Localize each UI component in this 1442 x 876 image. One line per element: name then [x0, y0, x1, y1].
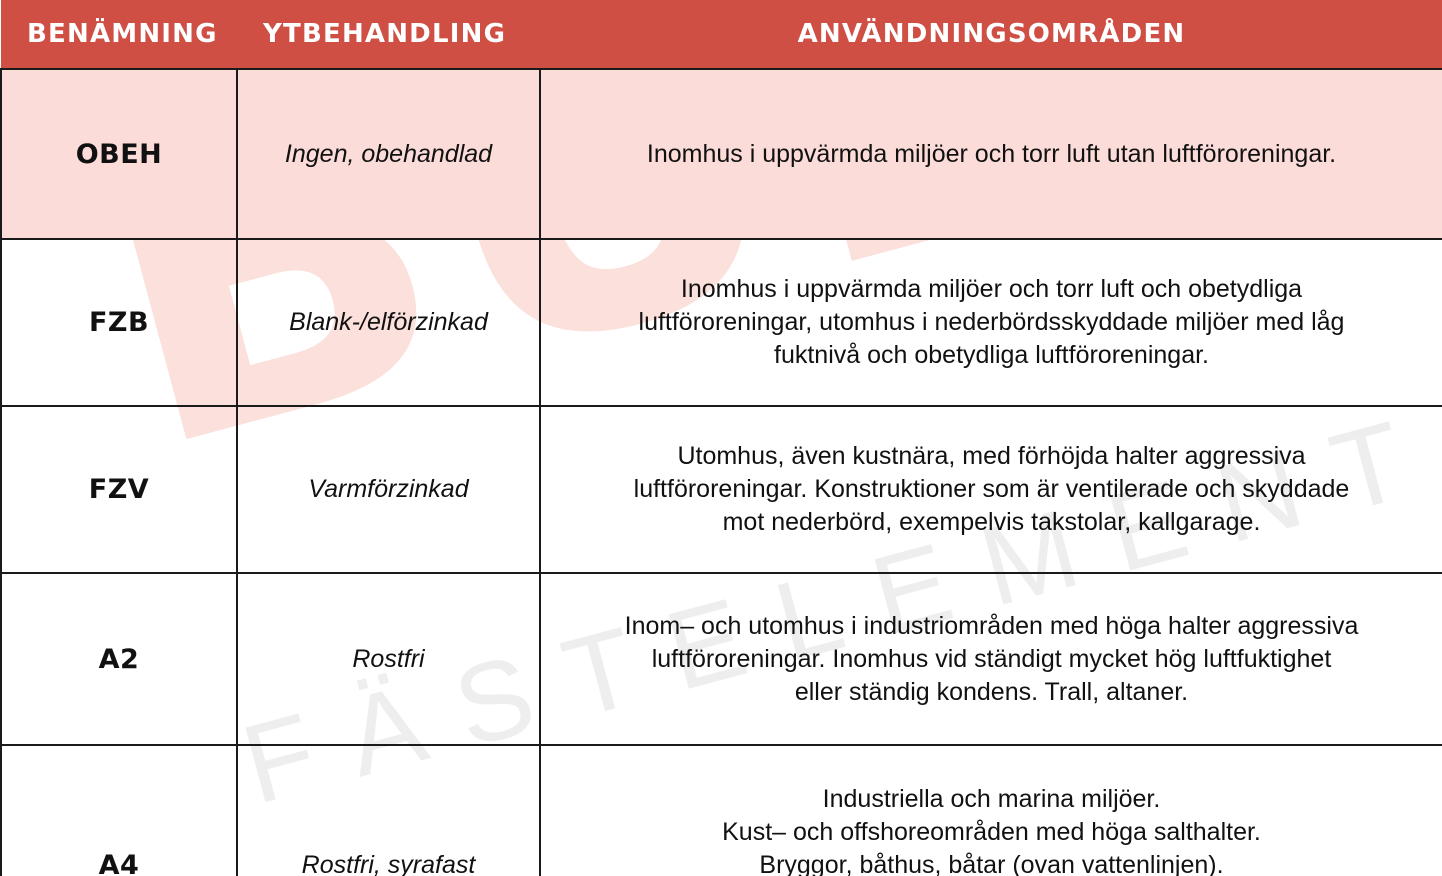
table-header: BENÄMNING YTBEHANDLING ANVÄNDNINGSOMRÅDE… [1, 0, 1442, 69]
cell-usage: Inomhus i uppvärmda miljöer och torr luf… [540, 239, 1442, 406]
cell-code: A4 [1, 745, 237, 876]
usage-line: eller ständig kondens. Trall, altaner. [559, 676, 1424, 709]
usage-line: Utomhus, även kustnära, med förhöjda hal… [559, 440, 1424, 473]
cell-treatment: Rostfri [237, 573, 540, 745]
cell-code: FZV [1, 406, 237, 573]
column-header-benamning: BENÄMNING [1, 0, 237, 69]
cell-treatment: Blank-/elförzinkad [237, 239, 540, 406]
usage-line: Industriella och marina miljöer. [559, 783, 1424, 816]
table-row: A2 Rostfri Inom– och utomhus i industrio… [1, 573, 1442, 745]
page-root: BULTAB FÄSTELEMENT BENÄMNING YTBEHANDLIN… [0, 0, 1442, 876]
surface-treatment-table: BENÄMNING YTBEHANDLING ANVÄNDNINGSOMRÅDE… [0, 0, 1442, 876]
cell-code: FZB [1, 239, 237, 406]
cell-code: OBEH [1, 69, 237, 239]
table-row: FZV Varmförzinkad Utomhus, även kustnära… [1, 406, 1442, 573]
cell-treatment: Rostfri, syrafast [237, 745, 540, 876]
table-row: A4 Rostfri, syrafast Industriella och ma… [1, 745, 1442, 876]
usage-line: Inom– och utomhus i industriområden med … [559, 610, 1424, 643]
cell-usage: Industriella och marina miljöer. Kust– o… [540, 745, 1442, 876]
table-row: OBEH Ingen, obehandlad Inomhus i uppvärm… [1, 69, 1442, 239]
cell-treatment: Ingen, obehandlad [237, 69, 540, 239]
usage-line: luftföroreningar. Inomhus vid ständigt m… [559, 643, 1424, 676]
usage-line: luftföroreningar. Konstruktioner som är … [559, 473, 1424, 506]
cell-code: A2 [1, 573, 237, 745]
usage-line: Inomhus i uppvärmda miljöer och torr luf… [559, 138, 1424, 171]
usage-line: fuktnivå och obetydliga luftföroreningar… [559, 339, 1424, 372]
cell-treatment: Varmförzinkad [237, 406, 540, 573]
usage-line: Inomhus i uppvärmda miljöer och torr luf… [559, 273, 1424, 306]
column-header-anvandningsomraden: ANVÄNDNINGSOMRÅDEN [540, 0, 1442, 69]
cell-usage: Utomhus, även kustnära, med förhöjda hal… [540, 406, 1442, 573]
cell-usage: Inomhus i uppvärmda miljöer och torr luf… [540, 69, 1442, 239]
usage-line: Kust– och offshoreområden med höga salth… [559, 816, 1424, 849]
table-row: FZB Blank-/elförzinkad Inomhus i uppvärm… [1, 239, 1442, 406]
usage-line: mot nederbörd, exempelvis takstolar, kal… [559, 506, 1424, 539]
cell-usage: Inom– och utomhus i industriområden med … [540, 573, 1442, 745]
column-header-ytbehandling: YTBEHANDLING [237, 0, 540, 69]
usage-line: luftföroreningar, utomhus i nederbördssk… [559, 306, 1424, 339]
table-header-row: BENÄMNING YTBEHANDLING ANVÄNDNINGSOMRÅDE… [1, 0, 1442, 69]
usage-line: Bryggor, båthus, båtar (ovan vattenlinje… [559, 849, 1424, 876]
table-body: OBEH Ingen, obehandlad Inomhus i uppvärm… [1, 69, 1442, 876]
